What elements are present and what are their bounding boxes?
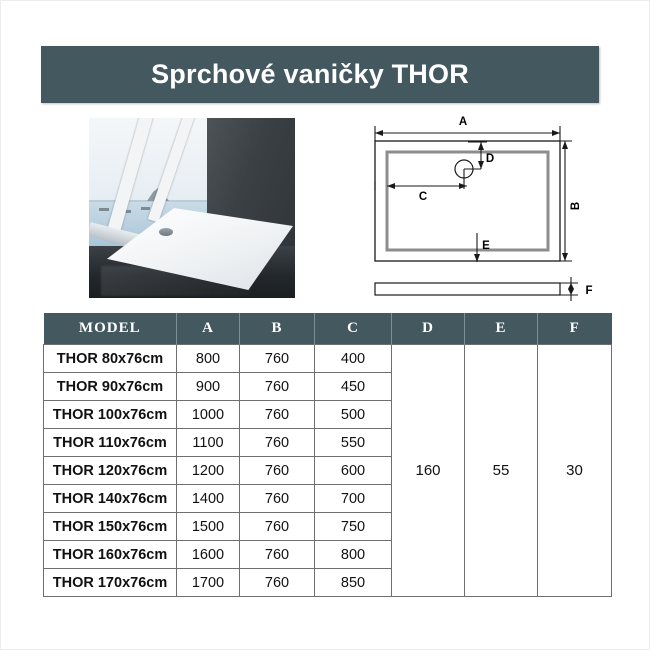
dim-label-d: D <box>486 153 494 165</box>
column-header-d: D <box>392 313 465 345</box>
cell-model: THOR 80x76cm <box>44 345 177 373</box>
cell-b: 760 <box>240 401 315 429</box>
photo-boat <box>141 207 150 210</box>
cell-f-merged: 30 <box>538 345 612 597</box>
cell-b: 760 <box>240 429 315 457</box>
table-header-row: MODEL A B C D E F <box>44 313 612 345</box>
photo-boat <box>99 208 109 211</box>
column-header-f: F <box>538 313 612 345</box>
cell-a: 900 <box>177 373 240 401</box>
cell-a: 1100 <box>177 429 240 457</box>
photo-drain <box>159 228 173 236</box>
cell-c: 700 <box>315 485 392 513</box>
cell-a: 1600 <box>177 541 240 569</box>
column-header-b: B <box>240 313 315 345</box>
cell-c: 600 <box>315 457 392 485</box>
cell-b: 760 <box>240 569 315 597</box>
cell-a: 800 <box>177 345 240 373</box>
cell-model: THOR 120x76cm <box>44 457 177 485</box>
dim-label-b: B <box>570 202 582 210</box>
tray-side-profile <box>375 283 560 295</box>
cell-c: 400 <box>315 345 392 373</box>
cell-b: 760 <box>240 513 315 541</box>
cell-model: THOR 110x76cm <box>44 429 177 457</box>
cell-a: 1700 <box>177 569 240 597</box>
cell-a: 1500 <box>177 513 240 541</box>
dim-label-f: F <box>585 285 592 297</box>
table-row: THOR 80x76cm8007604001605530 <box>44 345 612 373</box>
cell-c: 500 <box>315 401 392 429</box>
specification-table: MODEL A B C D E F THOR 80x76cm8007604001… <box>43 313 612 597</box>
page-title-bar: Sprchové vaničky THOR <box>41 46 599 103</box>
cell-c: 850 <box>315 569 392 597</box>
cell-b: 760 <box>240 373 315 401</box>
cell-model: THOR 100x76cm <box>44 401 177 429</box>
dim-label-a: A <box>459 116 467 128</box>
cell-model: THOR 150x76cm <box>44 513 177 541</box>
cell-b: 760 <box>240 345 315 373</box>
column-header-model: MODEL <box>44 313 177 345</box>
tray-outline <box>375 141 560 261</box>
product-photo <box>89 118 295 298</box>
cell-a: 1200 <box>177 457 240 485</box>
column-header-a: A <box>177 313 240 345</box>
cell-model: THOR 170x76cm <box>44 569 177 597</box>
cell-model: THOR 140x76cm <box>44 485 177 513</box>
column-header-e: E <box>465 313 538 345</box>
cell-c: 750 <box>315 513 392 541</box>
page-title: Sprchové vaničky THOR <box>151 59 469 90</box>
cell-c: 800 <box>315 541 392 569</box>
dim-label-e: E <box>482 240 490 252</box>
cell-model: THOR 90x76cm <box>44 373 177 401</box>
cell-a: 1000 <box>177 401 240 429</box>
cell-c: 550 <box>315 429 392 457</box>
product-spec-sheet: Sprchové vaničky THOR <box>0 0 650 650</box>
cell-e-merged: 55 <box>465 345 538 597</box>
cell-b: 760 <box>240 485 315 513</box>
cell-a: 1400 <box>177 485 240 513</box>
technical-drawing: A B C D E F <box>357 111 615 301</box>
tray-recess <box>387 152 548 250</box>
dim-label-c: C <box>419 191 427 203</box>
cell-c: 450 <box>315 373 392 401</box>
column-header-c: C <box>315 313 392 345</box>
cell-model: THOR 160x76cm <box>44 541 177 569</box>
cell-d-merged: 160 <box>392 345 465 597</box>
cell-b: 760 <box>240 457 315 485</box>
cell-b: 760 <box>240 541 315 569</box>
